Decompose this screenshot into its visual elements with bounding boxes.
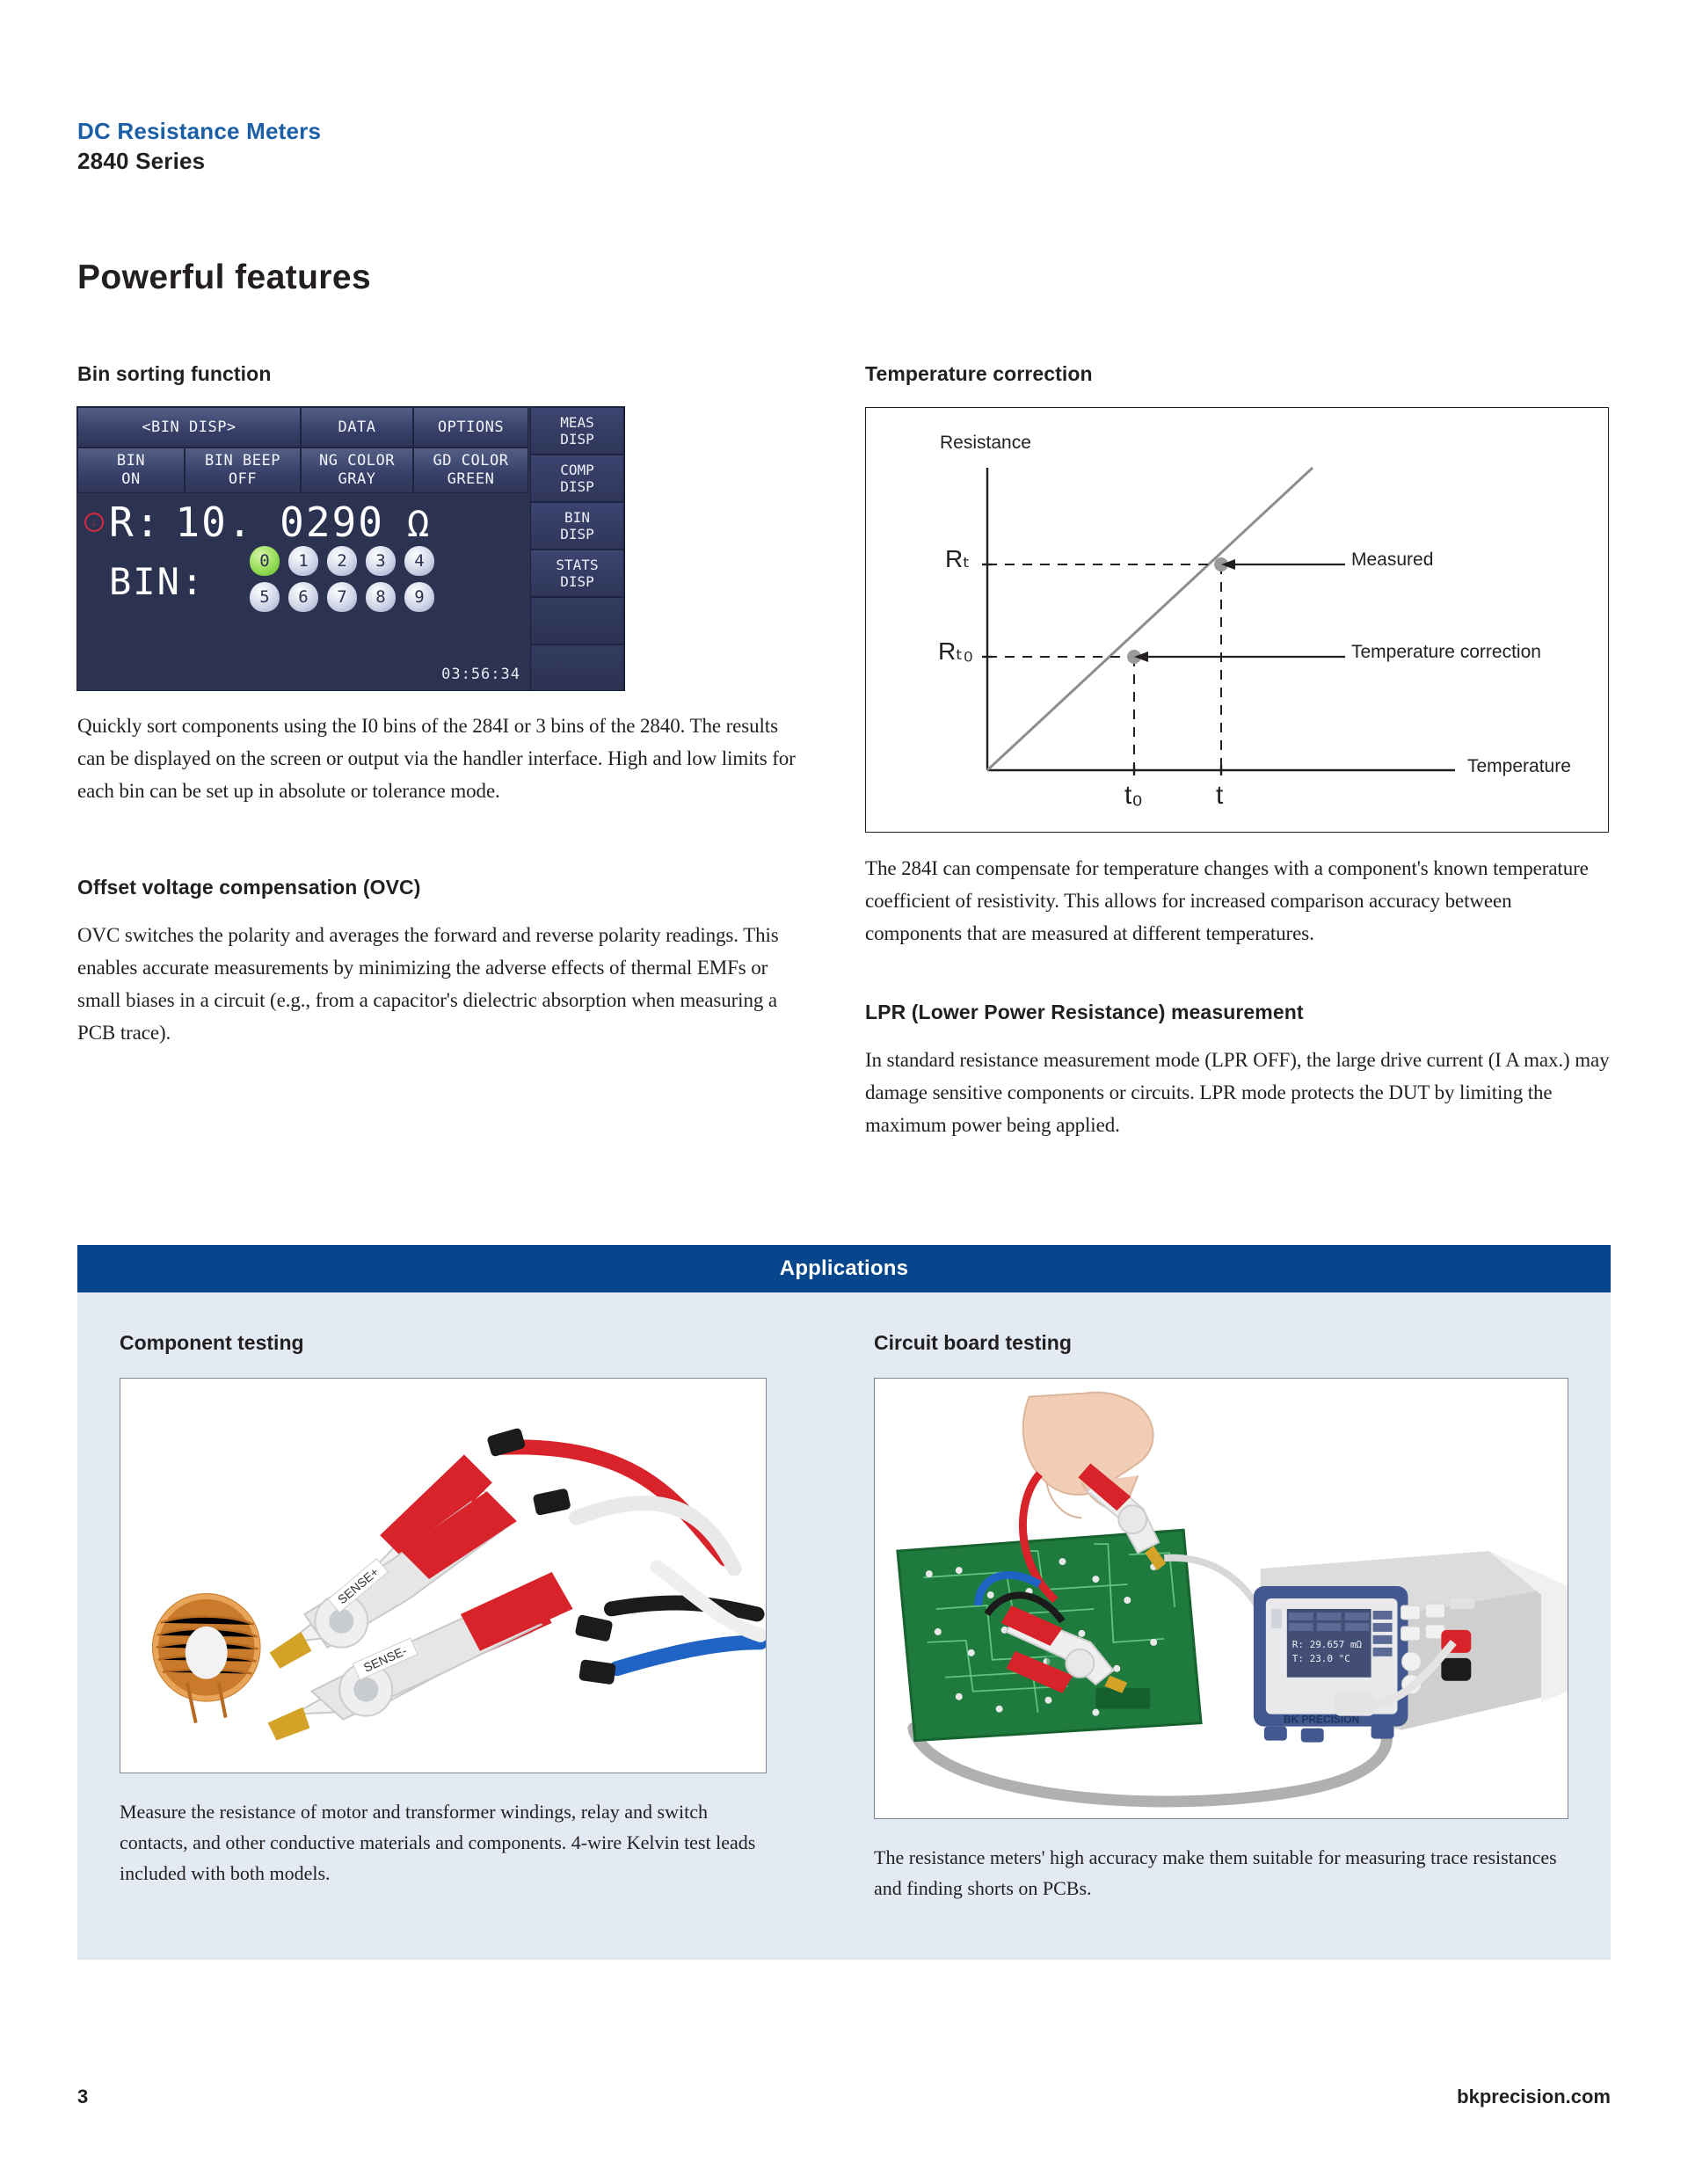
- header-series: 2840 Series: [77, 146, 321, 176]
- lcd-bin-dot-5[interactable]: 5: [250, 582, 280, 612]
- lcd-bin-dot-4[interactable]: 4: [404, 546, 434, 576]
- ovc-paragraph: OVC switches the polarity and averages t…: [77, 919, 798, 1049]
- lcd-softkey-column: MEAS DISP COMP DISP BIN DISP STATS DISP: [530, 407, 624, 690]
- lcd-bin-dot-7[interactable]: 7: [327, 582, 357, 612]
- header-product-line: DC Resistance Meters: [77, 116, 321, 146]
- applications-section: Applications Component testing: [77, 1245, 1611, 1960]
- lcd-field-bin[interactable]: BIN ON: [77, 448, 185, 493]
- lcd-bin-dot-0[interactable]: 0: [250, 546, 280, 576]
- page-title: Powerful features: [77, 258, 371, 297]
- component-testing-heading: Component testing: [120, 1331, 767, 1355]
- lcd-field-bin-beep[interactable]: BIN BEEP OFF: [185, 448, 301, 493]
- lcd-softkey-meas-line1: MEAS: [560, 414, 594, 431]
- temperature-correction-chart: Resistance Temperature Rₜ Rₜ₀ t₀ t Measu…: [865, 407, 1609, 833]
- chart-xtick-t0: t₀: [1124, 781, 1143, 811]
- lcd-field-bin-beep-name: BIN BEEP: [205, 452, 280, 470]
- circuit-board-testing-photo: R: 29.657 mΩ T: 23.0 °C: [874, 1378, 1568, 1819]
- kelvin-clips-illustration: SENSE+: [120, 1379, 766, 1773]
- pcb-testing-illustration: R: 29.657 mΩ T: 23.0 °C: [875, 1379, 1568, 1818]
- lcd-field-ng-color-name: NG COLOR: [319, 452, 395, 470]
- lcd-bin-dot-1[interactable]: 1: [288, 546, 318, 576]
- lcd-field-bin-value: ON: [121, 470, 140, 489]
- lcd-reading-value: 10. 0290: [175, 499, 384, 546]
- lcd-bin-dot-2[interactable]: 2: [327, 546, 357, 576]
- lcd-field-bin-beep-value: OFF: [229, 470, 257, 489]
- lcd-softkey-bin-line1: BIN: [564, 509, 590, 526]
- lcd-softkey-meas-disp[interactable]: MEAS DISP: [530, 407, 624, 455]
- lcd-reading-label: R:: [109, 499, 161, 546]
- lcd-reading-unit: Ω: [407, 502, 429, 545]
- chart-xtick-t: t: [1216, 781, 1223, 811]
- lcd-softkey-stats-line2: DISP: [560, 573, 594, 590]
- chart-xlabel: Temperature: [1467, 756, 1571, 777]
- component-testing-photo: SENSE+: [120, 1378, 767, 1773]
- lcd-softkey-comp-line1: COMP: [560, 462, 594, 478]
- temperature-correction-heading: Temperature correction: [865, 362, 1611, 386]
- down-arrow-indicator-icon: ↓: [84, 513, 104, 532]
- lcd-field-bin-name: BIN: [117, 452, 145, 470]
- lcd-field-gd-color[interactable]: GD COLOR GREEN: [413, 448, 528, 493]
- component-testing-caption: Measure the resistance of motor and tran…: [120, 1796, 767, 1889]
- bin-sorting-paragraph: Quickly sort components using the I0 bin…: [77, 710, 798, 807]
- meter-reading-r: R: 29.657 mΩ: [1292, 1639, 1363, 1650]
- lcd-field-ng-color[interactable]: NG COLOR GRAY: [301, 448, 413, 493]
- chart-resistance-line: [987, 468, 1313, 770]
- chart-annotation-temperature-correction: Temperature correction: [1351, 642, 1541, 663]
- lcd-bin-label: BIN:: [109, 560, 205, 603]
- lcd-softkey-stats-disp[interactable]: STATS DISP: [530, 550, 624, 597]
- lcd-bin-dot-8[interactable]: 8: [366, 582, 396, 612]
- lcd-softkey-meas-line2: DISP: [560, 431, 594, 448]
- lpr-heading: LPR (Lower Power Resistance) measurement: [865, 1001, 1611, 1024]
- application-circuit-board-testing: Circuit board testing: [874, 1331, 1568, 1904]
- applications-body: Component testing: [77, 1292, 1611, 1960]
- footer-website[interactable]: bkprecision.com: [1457, 2086, 1611, 2108]
- lcd-softkey-blank-1[interactable]: [530, 597, 624, 644]
- lcd-main-area: ↓ R: 10. 0290 Ω BIN: 0 1 2 3 4: [77, 493, 530, 690]
- applications-bar: Applications: [77, 1245, 1611, 1292]
- lcd-field-ng-color-value: GRAY: [338, 470, 376, 489]
- circuit-board-testing-caption: The resistance meters' high accuracy mak…: [874, 1842, 1568, 1904]
- bin-sorting-heading: Bin sorting function: [77, 362, 798, 386]
- lcd-resistance-reading: R: 10. 0290 Ω: [109, 499, 429, 546]
- lcd-softkey-bin-disp[interactable]: BIN DISP: [530, 502, 624, 550]
- lcd-key-options[interactable]: OPTIONS: [413, 407, 528, 448]
- lcd-softkey-stats-line1: STATS: [556, 557, 598, 573]
- left-column: Bin sorting function <BIN DISP> DATA OPT…: [77, 362, 798, 1049]
- lcd-bin-row-1: 0 1 2 3 4: [250, 546, 513, 576]
- chart-ytick-rt0: Rₜ₀: [938, 637, 973, 666]
- lpr-paragraph: In standard resistance measurement mode …: [865, 1044, 1611, 1141]
- lcd-key-bin-disp-title[interactable]: <BIN DISP>: [77, 407, 301, 448]
- lcd-bin-dot-3[interactable]: 3: [366, 546, 396, 576]
- application-component-testing: Component testing: [120, 1331, 767, 1904]
- lcd-softkey-comp-disp[interactable]: COMP DISP: [530, 455, 624, 502]
- circuit-board-testing-heading: Circuit board testing: [874, 1331, 1568, 1355]
- lcd-softkey-comp-line2: DISP: [560, 478, 594, 495]
- page: DC Resistance Meters 2840 Series Powerfu…: [0, 0, 1688, 2184]
- ovc-heading: Offset voltage compensation (OVC): [77, 876, 798, 899]
- document-header: DC Resistance Meters 2840 Series: [77, 116, 321, 176]
- lcd-bin-dot-9[interactable]: 9: [404, 582, 434, 612]
- chart-ytick-rt: Rₜ: [945, 544, 970, 573]
- lcd-softkey-blank-2[interactable]: [530, 644, 624, 690]
- lcd-field-gd-color-name: GD COLOR: [433, 452, 509, 470]
- right-column: Temperature correction: [865, 362, 1611, 1141]
- lcd-clock: 03:56:34: [441, 666, 520, 683]
- instrument-lcd-screenshot: <BIN DISP> DATA OPTIONS BIN ON BIN BEEP …: [77, 407, 624, 690]
- lcd-bin-dot-6[interactable]: 6: [288, 582, 318, 612]
- usb-port: [1271, 1609, 1282, 1628]
- applications-bar-label: Applications: [780, 1256, 908, 1281]
- meter-reading-t: T: 23.0 °C: [1292, 1653, 1350, 1664]
- chart-annotation-measured: Measured: [1351, 550, 1433, 571]
- lcd-bin-row-2: 5 6 7 8 9: [250, 582, 513, 612]
- lcd-softkey-bin-line2: DISP: [560, 526, 594, 542]
- lcd-key-data[interactable]: DATA: [301, 407, 413, 448]
- lcd-field-gd-color-value: GREEN: [447, 470, 495, 489]
- meter-power-button: [1450, 1598, 1474, 1609]
- footer-page-number: 3: [77, 2086, 88, 2108]
- cable-connector: [1335, 1692, 1375, 1716]
- terminal-black: [1441, 1658, 1471, 1681]
- temperature-correction-paragraph: The 284I can compensate for temperature …: [865, 852, 1611, 950]
- lcd-bin-indicator-grid: 0 1 2 3 4 5 6 7 8 9: [250, 546, 513, 618]
- chart-ylabel: Resistance: [940, 433, 1031, 454]
